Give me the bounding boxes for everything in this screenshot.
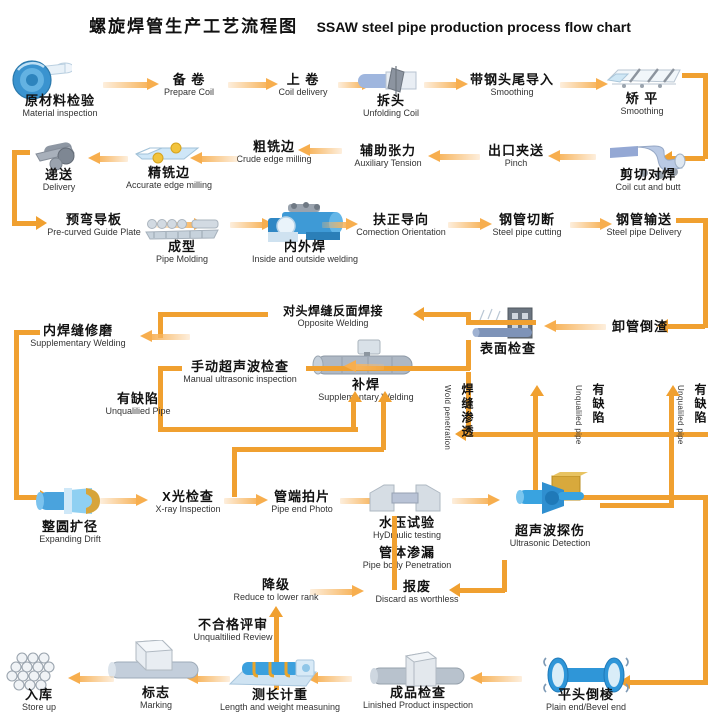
connector-surface-to-opposite-h	[466, 320, 536, 325]
connector-unqualified-loop-v	[351, 398, 356, 430]
node-label-cn: 出口夹送	[478, 144, 554, 158]
node-label-cn: 拆头	[352, 94, 430, 108]
node-label-en: Reduce to lower rank	[220, 593, 332, 602]
node-supplementary-welding-grinding[interactable]: 内焊缝修磨 Supplementary Welding	[10, 324, 146, 348]
node-expanding-drift[interactable]: 整圆扩径 Expanding Drift	[22, 520, 118, 544]
connector-unqualified-riser-2-foot	[600, 503, 672, 508]
node-pipe-end-photo[interactable]: 管端拍片 Pipe end Photo	[254, 490, 350, 514]
node-pipe-body-penetration[interactable]: 管体渗漏 Pipe body Penetration	[344, 546, 470, 570]
node-label-cn: 带钢头尾导入	[460, 73, 564, 87]
flowchart-canvas: 螺旋焊管生产工艺流程图 SSAW steel pipe production p…	[0, 0, 720, 720]
node-label-en: Ultrasonic Detection	[492, 539, 608, 548]
connector-weld-penetration-v	[381, 398, 386, 450]
node-coil-cut-and-butt[interactable]: 剪切对焊 Coil cut and butt	[592, 168, 704, 192]
node-label-en: Delivery	[18, 183, 100, 192]
node-label-cn: 不合格评审	[178, 618, 288, 632]
title-english: SSAW steel pipe production process flow …	[317, 19, 631, 35]
node-label-en: Smoothing	[600, 107, 684, 116]
node-label-cn: 上 卷	[260, 73, 346, 87]
expander-icon	[34, 484, 104, 518]
node-auxiliary-tension[interactable]: 辅助张力 Auxiliary Tension	[340, 144, 436, 168]
node-opposite-welding[interactable]: 对头焊缝反面焊接 Opposite Welding	[268, 305, 398, 328]
node-steel-pipe-cutting[interactable]: 钢管切断 Steel pipe cutting	[480, 213, 574, 237]
connector-repair-to-manual-h	[306, 366, 470, 371]
vertical-label-cn-unqualified-1: 有缺陷	[590, 383, 607, 425]
node-label-en: Steel pipe cutting	[480, 228, 574, 237]
node-label-cn: 精铣边	[110, 166, 228, 180]
node-label-en: Smoothing	[460, 88, 564, 97]
node-unqualified-pipe: 有缺陷 Unqualilied Pipe	[84, 392, 192, 416]
node-label-en: Comection Orientation	[346, 228, 456, 237]
node-label-cn: 测长计重	[204, 688, 356, 702]
node-label-en: Plain end/Bevel end	[528, 703, 644, 712]
node-label-cn: 整圆扩径	[22, 520, 118, 534]
node-label-en: Pinch	[478, 159, 554, 168]
arrow-marking-to-store-up	[68, 672, 114, 685]
arrow-leadin-to-leveller	[560, 78, 608, 91]
connector-ultrasonic-right-h	[608, 495, 708, 500]
node-label-cn: X光检查	[140, 490, 236, 504]
node-label-en: Pre-curved Guide Plate	[30, 228, 158, 237]
vertical-label-cn-weld-penetration: 焊缝渗透	[459, 383, 476, 439]
node-unqualified-review[interactable]: 不合格评审 Unqualtilied Review	[178, 618, 288, 642]
node-material-inspection[interactable]: 原材料检验 Material inspection	[0, 94, 120, 118]
node-label-en: Supplementary Welding	[306, 393, 426, 402]
node-store-up[interactable]: 入库 Store up	[2, 688, 76, 712]
connector-unqualified-riser-2	[669, 393, 674, 508]
node-label-en: Material inspection	[0, 109, 120, 118]
node-xray-inspection[interactable]: X光检查 X-ray Inspection	[140, 490, 236, 514]
arrow-shear-to-pinch	[548, 150, 596, 163]
node-label-en: X-ray Inspection	[140, 505, 236, 514]
node-prepare-coil[interactable]: 备 卷 Prepare Coil	[146, 73, 232, 97]
connector-repair-to-manual-v	[466, 340, 471, 370]
node-label-cn: 标志	[112, 686, 200, 700]
node-label-en: HyDraulic testing	[352, 531, 462, 540]
node-label-en: Steel pipe Delivery	[596, 228, 692, 237]
node-hydraulic-testing[interactable]: 水压试验 HyDraulic testing	[352, 516, 462, 540]
node-label-cn: 成品检查	[346, 686, 490, 700]
node-label-cn: 钢管切断	[480, 213, 574, 227]
arrow-accurate-to-delivery	[88, 152, 128, 165]
node-label-en: Marking	[112, 701, 200, 710]
connector-surface-to-opposite-h2	[424, 312, 470, 317]
node-label-cn: 平头倒棱	[528, 688, 644, 702]
node-label-en: Length and weight measuning	[204, 703, 356, 712]
node-label-en: Unfolding Coil	[352, 109, 430, 118]
connector-hydro-reject-v	[392, 516, 397, 590]
leveller-icon	[604, 62, 684, 94]
node-label-en: Pipe body Penetration	[344, 561, 470, 570]
connector-r4-to-r5-vert	[14, 330, 19, 500]
arrow-to-manual-ultrasonic	[344, 360, 384, 373]
node-label-en: Pipe Molding	[134, 255, 230, 264]
page-title: 螺旋焊管生产工艺流程图 SSAW steel pipe production p…	[0, 12, 720, 37]
arrow-unload-to-surface-check	[544, 320, 606, 333]
node-label-en: Pipe end Photo	[254, 505, 350, 514]
arrow-bevel-to-final-inspection	[470, 672, 522, 685]
node-label-en: Expanding Drift	[22, 535, 118, 544]
node-smoothing[interactable]: 矫 平 Smoothing	[600, 92, 684, 116]
node-accurate-edge-milling[interactable]: 精铣边 Accurate edge milling	[110, 166, 228, 190]
node-label-en: Supplementary Welding	[10, 339, 146, 348]
connector-r3-to-r4-vert	[703, 218, 708, 328]
node-delivery[interactable]: 递送 Delivery	[18, 168, 100, 192]
node-label-cn: 报废	[362, 580, 472, 594]
node-steel-pipe-delivery[interactable]: 钢管输送 Steel pipe Delivery	[596, 213, 692, 237]
warehouse-bundle-icon	[6, 650, 68, 692]
node-coil-delivery[interactable]: 上 卷 Coil delivery	[260, 73, 346, 97]
node-plain-bevel-end[interactable]: 平头倒棱 Plain end/Bevel end	[528, 688, 644, 712]
node-label-en: Crude edge milling	[226, 155, 322, 164]
node-label-cn: 入库	[2, 688, 76, 702]
node-label-en: Opposite Welding	[268, 319, 398, 328]
marking-icon	[106, 640, 202, 684]
node-label-en: Coil cut and butt	[592, 183, 704, 192]
node-label-cn: 水压试验	[352, 516, 462, 530]
node-label-en: Auxiliary Tension	[340, 159, 436, 168]
vertical-label-cn-unqualified-2: 有缺陷	[692, 383, 709, 425]
node-label-en: Discard as worthless	[362, 595, 472, 604]
node-inside-outside-welding[interactable]: 内外焊 Inside and outside welding	[250, 240, 360, 264]
node-label-cn: 管体渗漏	[344, 546, 470, 560]
connector-ultrasonic-right-v	[703, 495, 708, 685]
node-pinch[interactable]: 出口夹送 Pinch	[478, 144, 554, 168]
node-label-cn: 补焊	[306, 378, 426, 392]
node-ultrasonic-detection[interactable]: 超声波探伤 Ultrasonic Detection	[492, 524, 608, 548]
node-label-cn: 扶正导向	[346, 213, 456, 227]
node-reduce-to-lower-rank[interactable]: 降级 Reduce to lower rank	[220, 578, 332, 602]
node-label-en: Prepare Coil	[146, 88, 232, 97]
node-label-cn: 降级	[220, 578, 332, 592]
title-chinese: 螺旋焊管生产工艺流程图	[89, 17, 298, 36]
node-label-cn: 备 卷	[146, 73, 232, 87]
node-strip-head-tail-lead-in[interactable]: 带钢头尾导入 Smoothing	[460, 73, 564, 97]
node-label-cn: 粗铣边	[226, 140, 322, 154]
node-label-cn: 表面检查	[466, 342, 550, 356]
node-label-cn: 成型	[134, 240, 230, 254]
node-label-cn: 有缺陷	[84, 392, 192, 406]
node-label-en: Coil delivery	[260, 88, 346, 97]
ultrasonic-icon	[512, 472, 588, 520]
node-unfolding-coil[interactable]: 拆头 Unfolding Coil	[352, 94, 430, 118]
node-manual-ultrasonic-inspection[interactable]: 手动超声波检查 Manual ultrasonic inspection	[166, 360, 314, 384]
node-label-cn: 递送	[18, 168, 100, 182]
node-label-en: Unqualilied Pipe	[84, 407, 192, 416]
node-label-cn: 矫 平	[600, 92, 684, 106]
node-label-cn: 管端拍片	[254, 490, 350, 504]
connector-to-bevel-h	[630, 680, 705, 685]
arrow-to-inner-weld-grinding	[140, 330, 190, 343]
node-label-en: Accurate edge milling	[110, 181, 228, 190]
connector-r2-to-r3-vert	[12, 150, 17, 226]
node-unload-pipe-slag[interactable]: 卸管倒渣	[600, 320, 680, 334]
vertical-label-en-weld-penetration: Wold penetration	[443, 385, 452, 450]
node-label-cn: 内外焊	[250, 240, 360, 254]
node-label-cn: 原材料检验	[0, 94, 120, 108]
node-label-cn: 卸管倒渣	[600, 320, 680, 334]
node-pre-curved-guide-plate[interactable]: 预弯导板 Pre-curved Guide Plate	[30, 213, 158, 237]
node-crude-edge-milling[interactable]: 粗铣边 Crude edge milling	[226, 140, 322, 164]
hydro-test-icon	[366, 483, 444, 515]
node-label-en: Store up	[2, 703, 76, 712]
arrow-hydraulic-to-ultrasonic	[452, 494, 500, 507]
node-label-cn: 超声波探伤	[492, 524, 608, 538]
node-discard-as-worthless[interactable]: 报废 Discard as worthless	[362, 580, 472, 604]
node-finished-product-inspection[interactable]: 成品检查 Linished Product inspection	[346, 686, 490, 710]
node-label-en: Inside and outside welding	[250, 255, 360, 264]
node-label-en: Linished Product inspection	[346, 701, 490, 710]
connector-weld-penetration-h	[232, 447, 384, 452]
node-label-cn: 手动超声波检查	[166, 360, 314, 374]
vertical-label-en-unqualified-1: Unqualiled pipe	[574, 385, 583, 445]
node-surface-check[interactable]: 表面检查	[466, 342, 550, 356]
connector-unqualified-loop-h	[158, 427, 358, 432]
node-correction-orientation[interactable]: 扶正导向 Comection Orientation	[346, 213, 456, 237]
node-repair-welding[interactable]: 补焊 Supplementary Welding	[306, 378, 426, 402]
node-label-cn: 剪切对焊	[592, 168, 704, 182]
arrowhead-to-opposite-welding	[413, 307, 424, 321]
connector-r1-to-r2-vert	[703, 73, 708, 159]
node-label-cn: 预弯导板	[30, 213, 158, 227]
node-pipe-molding[interactable]: 成型 Pipe Molding	[134, 240, 230, 264]
arrowhead-review-to-reduce	[269, 606, 283, 617]
connector-opposite-left-h	[158, 312, 268, 317]
node-length-weight-measuring[interactable]: 测长计重 Length and weight measuning	[204, 688, 356, 712]
node-label-cn: 辅助张力	[340, 144, 436, 158]
node-label-en: Manual ultrasonic inspection	[166, 375, 314, 384]
node-marking[interactable]: 标志 Marking	[112, 686, 200, 710]
node-label-cn: 对头焊缝反面焊接	[268, 305, 398, 318]
